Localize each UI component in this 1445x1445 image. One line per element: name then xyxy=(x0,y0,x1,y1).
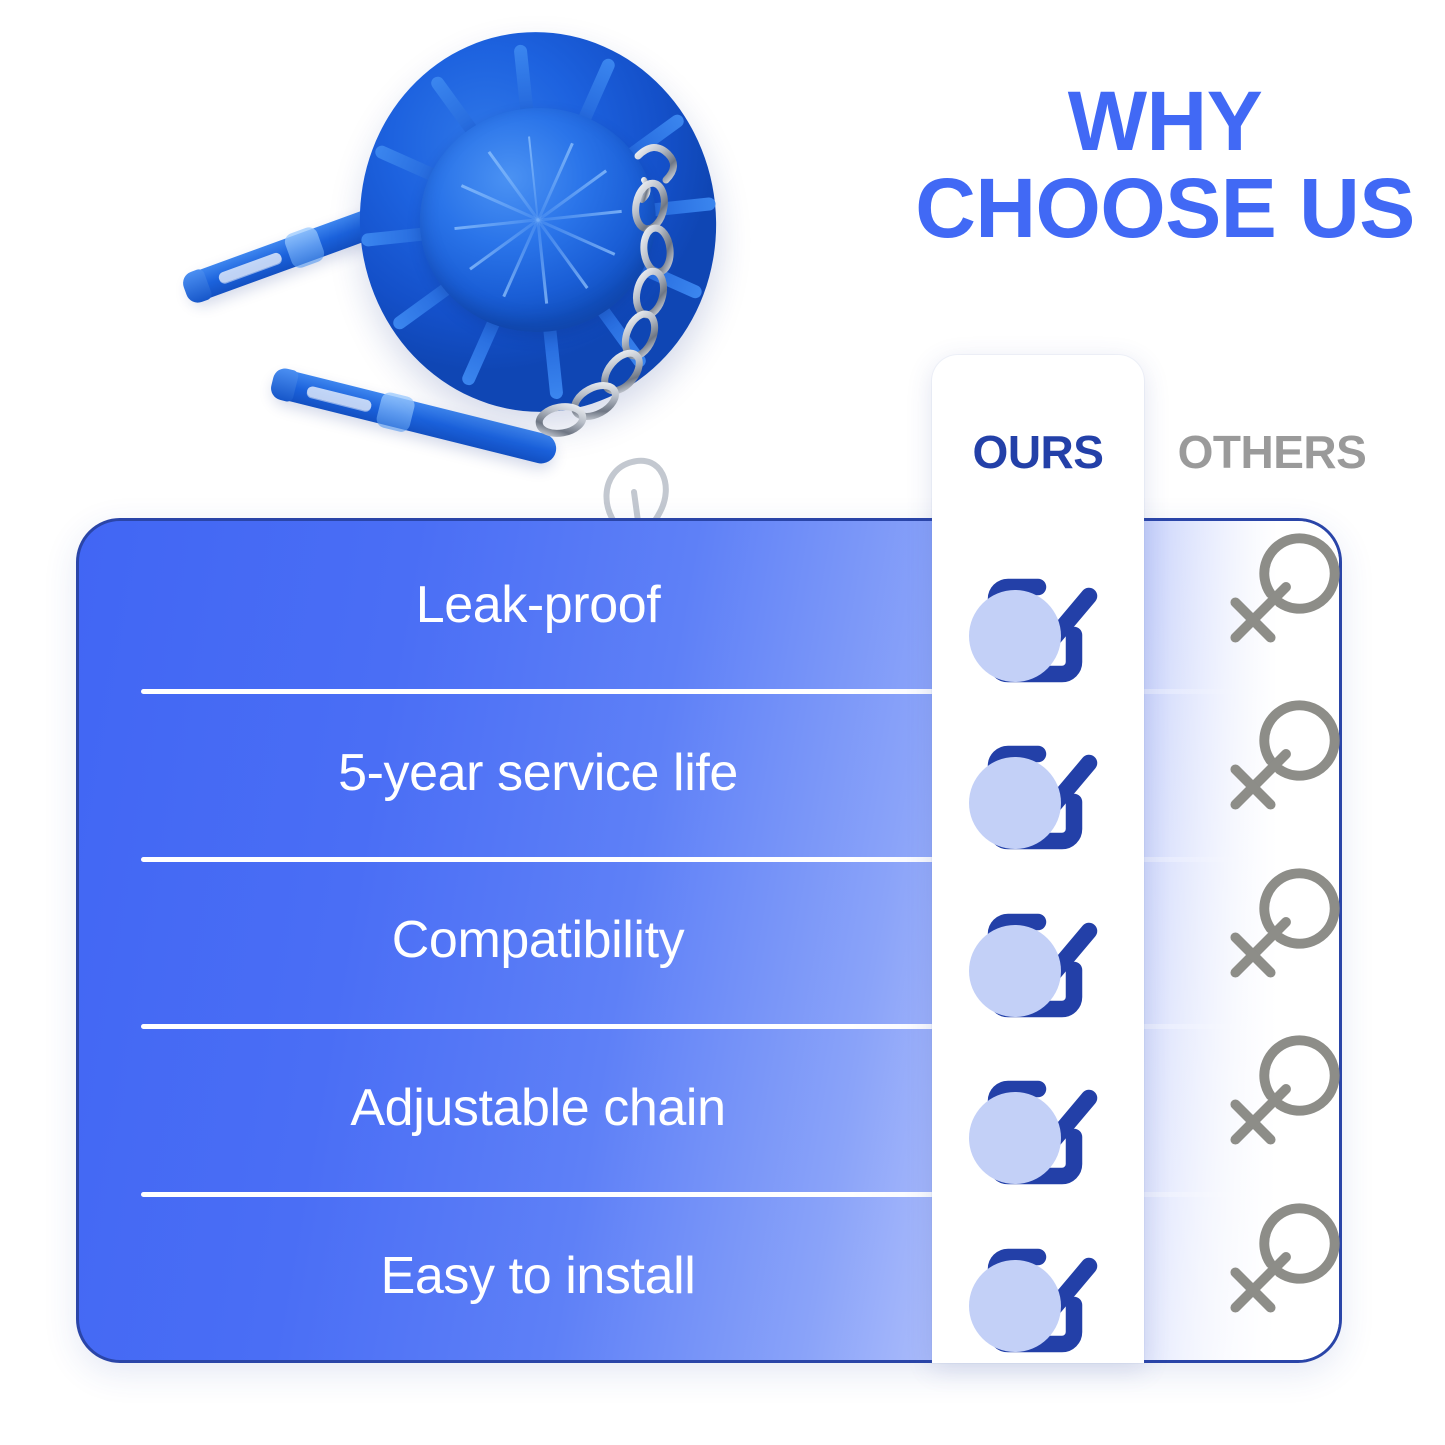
feature-label: Adjustable chain xyxy=(143,1078,933,1138)
title-line-2: CHOOSE US xyxy=(905,165,1425,252)
others-column-header: OTHERS xyxy=(1152,425,1392,479)
title-line-1: WHY xyxy=(1068,74,1262,168)
others-cell-1 xyxy=(1198,732,1318,842)
ours-cell-3 xyxy=(963,1062,1113,1212)
icon-backdrop-circle xyxy=(969,590,1061,682)
circle-x-icon xyxy=(1198,1235,1308,1345)
icon-backdrop-circle xyxy=(969,1260,1061,1352)
table-row[interactable]: 5-year service life xyxy=(79,689,1339,857)
icon-backdrop-circle xyxy=(969,757,1061,849)
circle-x-icon xyxy=(1198,732,1308,842)
circle-x-icon xyxy=(1198,900,1308,1010)
feature-label: Easy to install xyxy=(143,1246,933,1306)
ours-column-header: OURS xyxy=(932,425,1144,479)
table-row[interactable]: Compatibility xyxy=(79,857,1339,1025)
ours-cell-4 xyxy=(963,1230,1113,1380)
ours-cell-0 xyxy=(963,560,1113,710)
infographic-canvas: WHY CHOOSE US Leak-proof 5-year service … xyxy=(0,0,1445,1445)
table-row[interactable]: Leak-proof xyxy=(79,521,1339,689)
circle-x-icon xyxy=(1198,565,1308,675)
others-cell-3 xyxy=(1198,1067,1318,1177)
others-cell-2 xyxy=(1198,900,1318,1010)
feature-label: Leak-proof xyxy=(143,575,933,635)
table-row[interactable]: Easy to install xyxy=(79,1192,1339,1360)
page-title: WHY CHOOSE US xyxy=(905,78,1425,251)
circle-x-icon xyxy=(1198,1067,1308,1177)
comparison-panel: Leak-proof 5-year service life Compatibi… xyxy=(76,518,1342,1363)
icon-backdrop-circle xyxy=(969,1092,1061,1184)
feature-label: Compatibility xyxy=(143,910,933,970)
comparison-rows: Leak-proof 5-year service life Compatibi… xyxy=(79,521,1339,1360)
ours-cell-1 xyxy=(963,727,1113,877)
others-cell-0 xyxy=(1198,565,1318,675)
feature-label: 5-year service life xyxy=(143,743,933,803)
table-row[interactable]: Adjustable chain xyxy=(79,1024,1339,1192)
icon-backdrop-circle xyxy=(969,925,1061,1017)
others-cell-4 xyxy=(1198,1235,1318,1345)
ours-cell-2 xyxy=(963,895,1113,1045)
